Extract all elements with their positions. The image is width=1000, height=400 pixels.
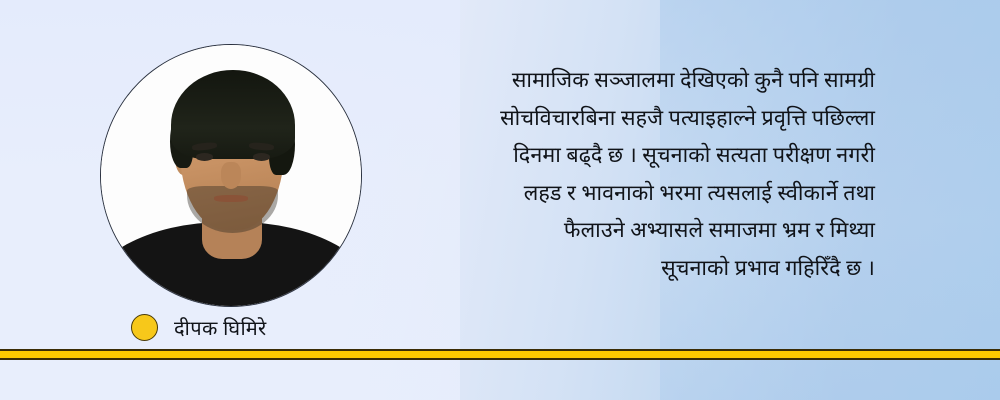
author-attribution: दीपक घिमिरे — [131, 314, 267, 341]
portrait-mouth — [214, 195, 248, 202]
portrait-photo — [101, 45, 361, 306]
quote-line: सोचविचारबिना सहजै पत्याइहाल्ने प्रवृत्ति… — [425, 100, 875, 138]
gold-divider-rule — [0, 349, 1000, 360]
quote-line: सूचनाको प्रभाव गहिरिँदै छ । — [425, 250, 875, 288]
author-name: दीपक घिमिरे — [174, 314, 267, 341]
portrait-hair — [171, 70, 295, 159]
quote-body: सामाजिक सञ्जालमा देखिएको कुनै पनि सामग्र… — [425, 62, 875, 287]
quote-line: फैलाउने अभ्यासले समाजमा भ्रम र मिथ्या — [425, 212, 875, 250]
portrait-nose — [221, 162, 242, 188]
quote-line: लहड र भावनाको भरमा त्यसलाई स्वीकार्ने तथ… — [425, 175, 875, 213]
quote-line: सामाजिक सञ्जालमा देखिएको कुनै पनि सामग्र… — [425, 62, 875, 100]
filled-circle-icon — [131, 314, 158, 341]
author-portrait — [100, 44, 362, 307]
portrait-eye-right — [253, 153, 270, 160]
quote-line: दिनमा बढ्दै छ । सूचनाको सत्यता परीक्षण न… — [425, 137, 875, 175]
portrait-eye-left — [196, 153, 213, 160]
quote-card: सामाजिक सञ्जालमा देखिएको कुनै पनि सामग्र… — [0, 0, 1000, 400]
